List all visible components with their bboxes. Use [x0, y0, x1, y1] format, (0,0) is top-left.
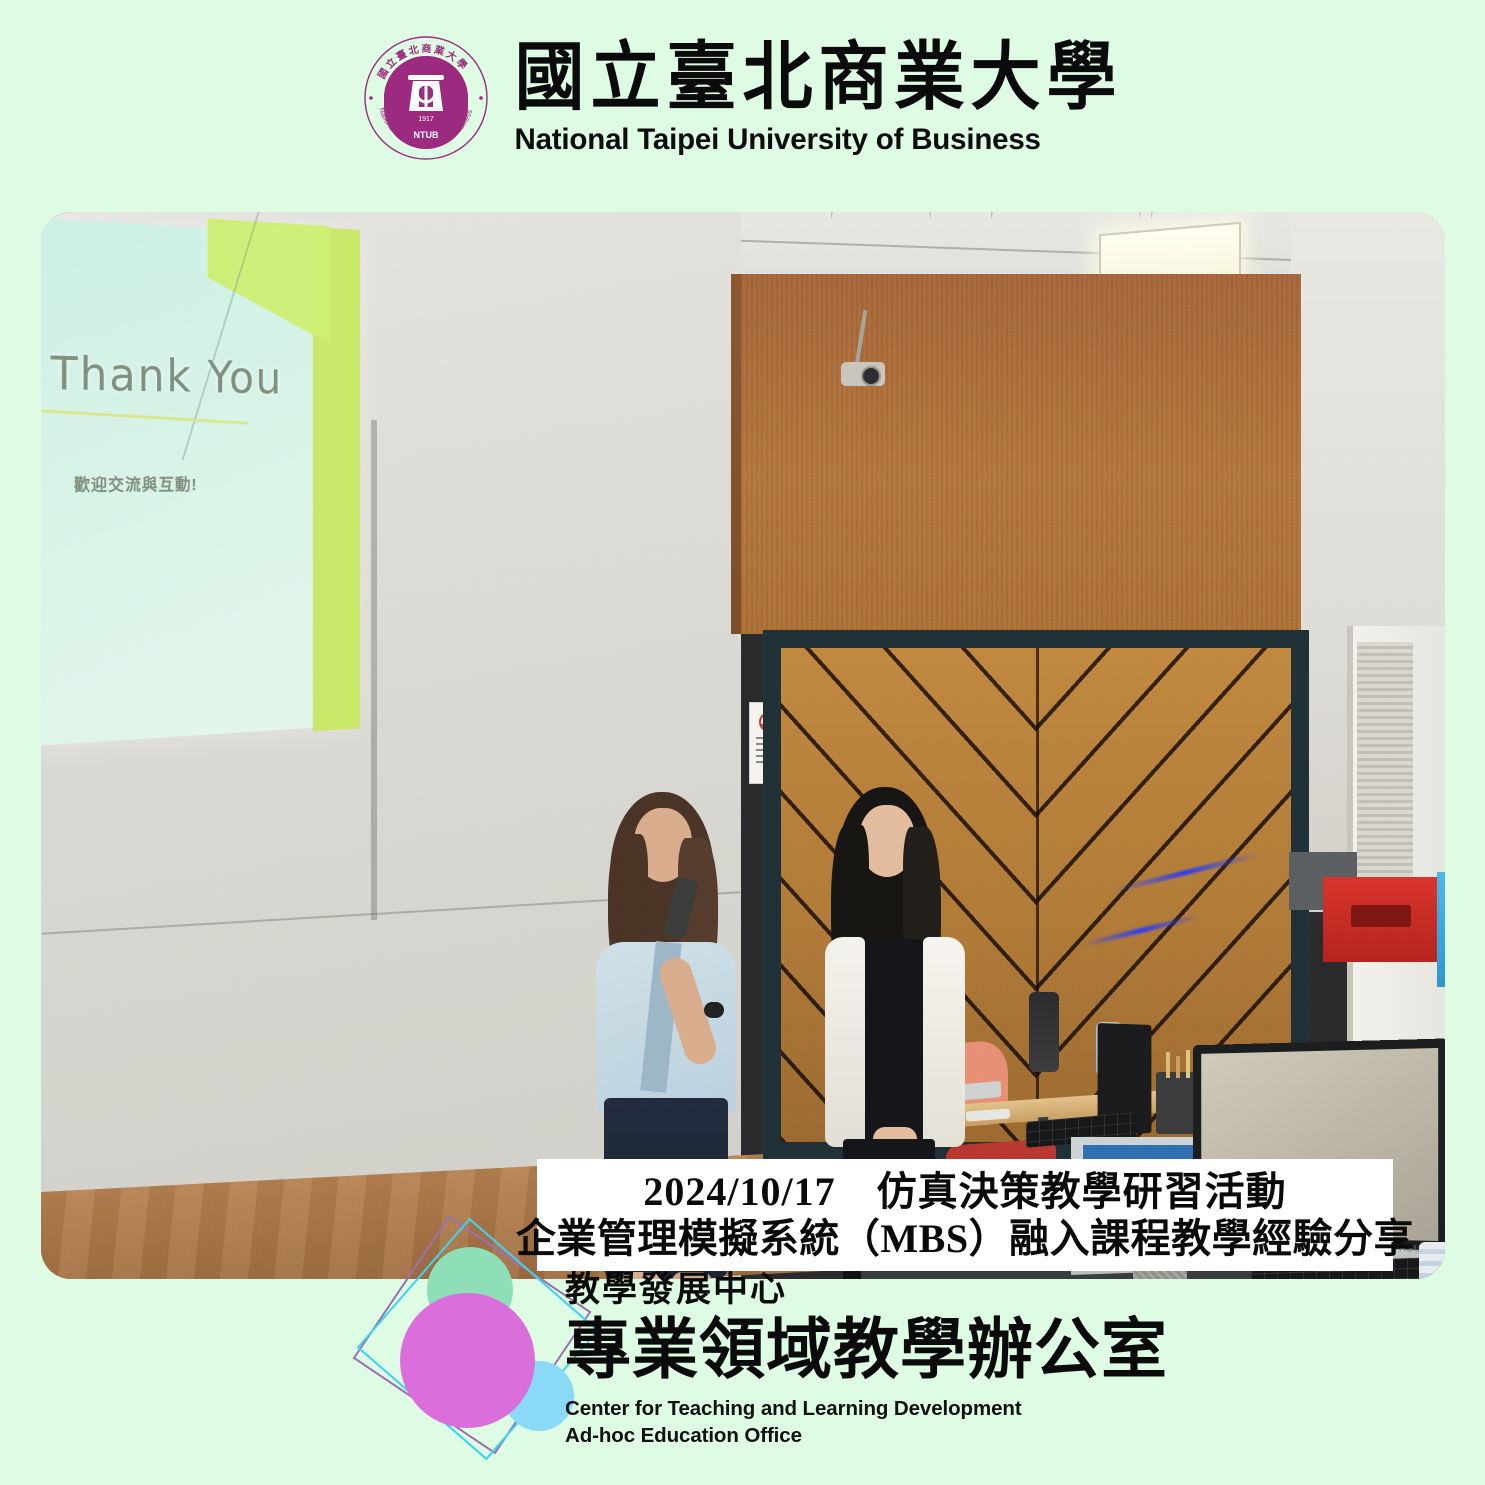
svg-text:1917: 1917 — [418, 116, 434, 123]
page-footer: 教學發展中心 專業領域教學辦公室 Center for Teaching and… — [0, 1279, 1485, 1485]
red-crate — [1323, 877, 1445, 962]
event-caption-banner: 2024/10/17 仿真決策教學研習活動 企業管理模擬系統（MBS）融入課程教… — [537, 1159, 1393, 1271]
slide-title: Thank You — [51, 346, 283, 404]
security-camera-icon — [841, 362, 885, 386]
blue-bin — [1437, 872, 1445, 987]
footer-office-name-en: Ad-hoc Education Office — [565, 1423, 1168, 1450]
page-header: 1917 NTUB 國立臺北商業大學 National Taipei Unive… — [0, 0, 1485, 196]
caption-date-title: 2024/10/17 仿真決策教學研習活動 — [643, 1168, 1286, 1215]
door-frame — [1347, 626, 1445, 1046]
footer-center-name-cn: 教學發展中心 — [565, 1271, 1168, 1310]
footer-org-text: 教學發展中心 專業領域教學辦公室 Center for Teaching and… — [565, 1271, 1168, 1450]
footer-center-name-en: Center for Teaching and Learning Develop… — [565, 1396, 1168, 1423]
projection-screen: Thank You 歡迎交流與互動! — [41, 218, 360, 746]
striped-cloth — [1419, 1242, 1445, 1279]
slide-subtitle: 歡迎交流與互動! — [74, 471, 198, 496]
university-name-cn: 國立臺北商業大學 — [515, 41, 1123, 117]
upper-wood-wall — [741, 274, 1301, 634]
university-name-en: National Taipei University of Business — [515, 123, 1041, 157]
event-photo: Thank You 歡迎交流與互動! — [41, 212, 1445, 1279]
tumbler — [1029, 992, 1059, 1072]
caption-subtitle: 企業管理模擬系統（MBS）融入課程教學經驗分享 — [516, 1215, 1414, 1262]
ntub-seal-icon: 1917 NTUB 國立臺北商業大學 National Taipei Unive… — [363, 35, 489, 161]
header-titles: 國立臺北商業大學 National Taipei University of B… — [515, 43, 1123, 156]
footer-office-name-cn: 專業領域教學辦公室 — [565, 1314, 1168, 1388]
